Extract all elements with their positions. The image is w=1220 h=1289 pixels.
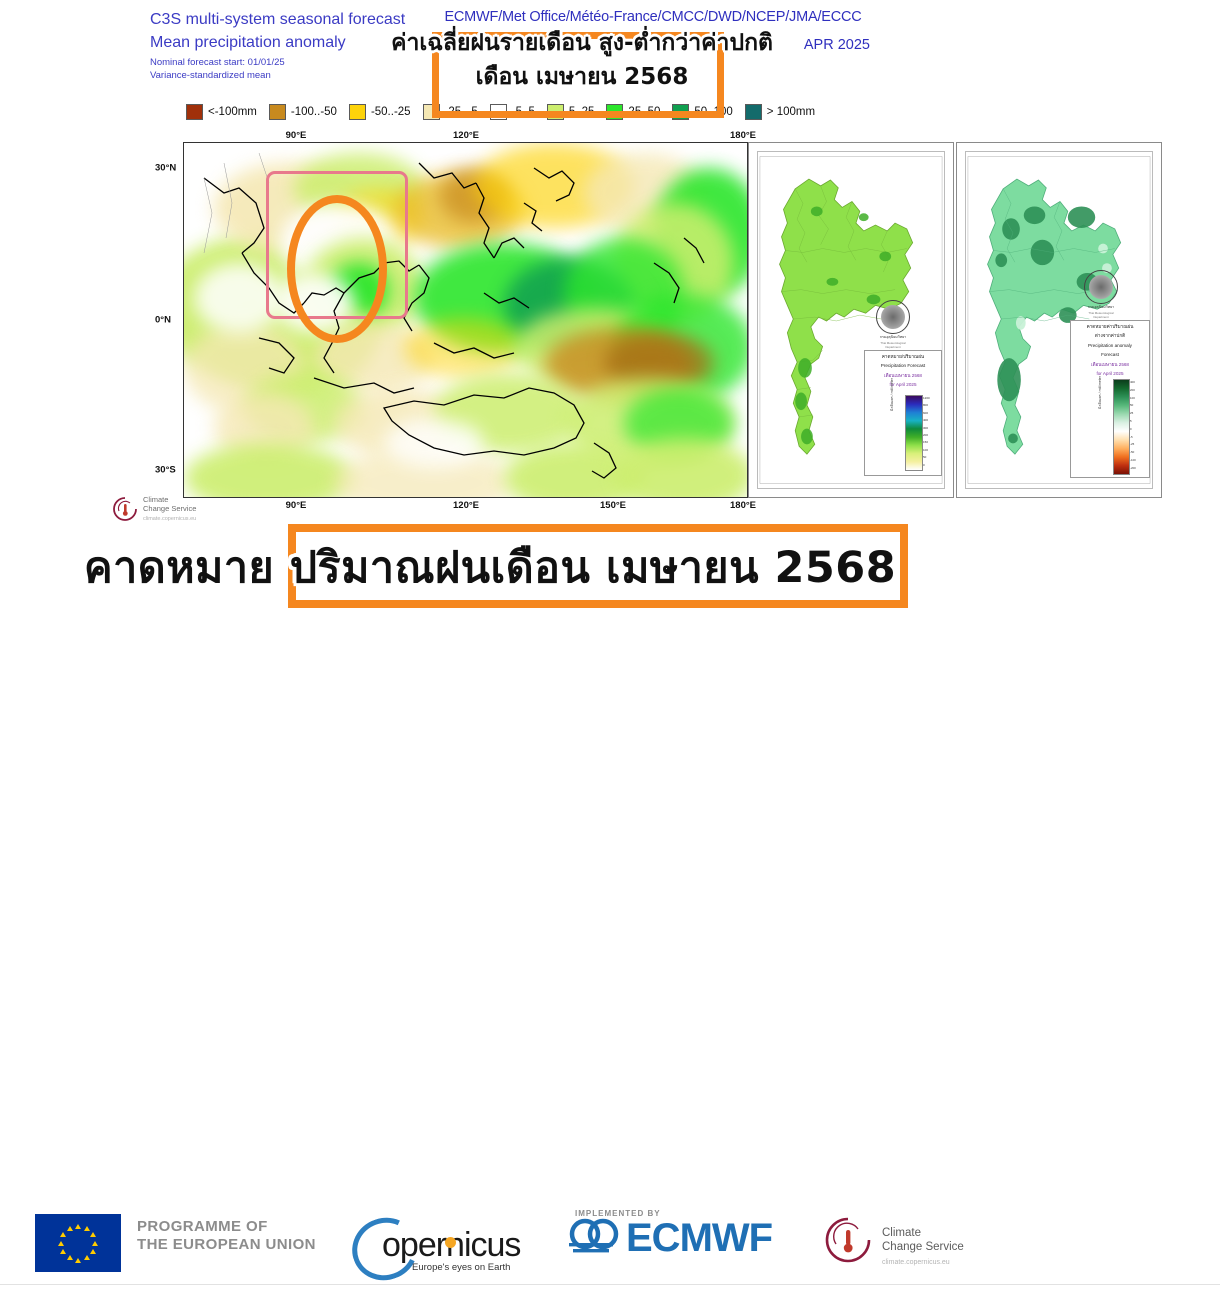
c3s-forecast-panel: C3S multi-system seasonal forecast Mean … bbox=[0, 0, 1220, 600]
longitude-tick-label: 90°E bbox=[286, 500, 307, 511]
latitude-tick-label: 30°S bbox=[155, 465, 176, 476]
eu-star-icon bbox=[84, 1255, 90, 1260]
forecast-method-text: Variance-standardized mean bbox=[150, 70, 405, 82]
ccs-thermometer-icon bbox=[820, 1212, 876, 1268]
thailand-legend-line: คาดหมาย/ปริมาณฝน bbox=[865, 351, 941, 360]
tmd-seal-caption-th-2: กรมอุตุนิยมวิทยา bbox=[1084, 305, 1118, 310]
ecmwf-wordmark: ECMWF bbox=[626, 1218, 772, 1258]
legend-item: -50..-25 bbox=[349, 104, 411, 120]
legend-label: <-100mm bbox=[208, 106, 257, 118]
eu-star-icon bbox=[84, 1226, 90, 1231]
legend-swatch bbox=[269, 104, 286, 120]
map-plot-area bbox=[183, 142, 748, 498]
thailand-legend-unit-2: มิลลิเมตร / millimeter bbox=[1097, 376, 1103, 409]
eu-star-icon bbox=[75, 1258, 81, 1263]
thai-title-line1: ค่าเฉลี่ยฝนรายเดือน สูง-ต่ำกว่าค่าปกติ bbox=[372, 28, 792, 58]
legend-label: > 100mm bbox=[767, 106, 815, 118]
thai-title-line2: เดือน เมษายน 2568 bbox=[372, 61, 792, 93]
footer-divider bbox=[0, 1284, 1220, 1285]
legend-item: > 100mm bbox=[745, 104, 815, 120]
legend-swatch bbox=[349, 104, 366, 120]
eu-flag-icon bbox=[35, 1214, 121, 1272]
thailand-legend-line: ต่างจากค่าปกติ bbox=[1071, 330, 1149, 339]
implemented-by-label: IMPLEMENTED BY bbox=[575, 1209, 661, 1218]
eu-programme-line2: THE EUROPEAN UNION bbox=[137, 1236, 316, 1254]
longitude-axis-bottom: 90°E120°E150°E180°E bbox=[183, 500, 748, 514]
eu-star-icon bbox=[75, 1224, 81, 1229]
eu-programme-line1: PROGRAMME OF bbox=[137, 1218, 316, 1236]
longitude-tick-label: 120°E bbox=[453, 500, 479, 511]
c3s-watermark: Climate Change Service climate.copernicu… bbox=[110, 494, 196, 524]
ecmwf-mark-icon bbox=[565, 1218, 623, 1258]
thailand-legend-1: คาดหมาย/ปริมาณฝนPrecipitation Forecastเด… bbox=[864, 350, 942, 476]
watermark-line2: Change Service bbox=[143, 504, 196, 513]
legend-swatch bbox=[745, 104, 762, 120]
latitude-tick-label: 0°N bbox=[155, 315, 171, 326]
thailand-map-frame-2: กรมอุตุนิยมวิทยา Thai Meteorological Dep… bbox=[965, 151, 1153, 489]
thailand-legend-unit-1: มิลลิเมตร / millimeter bbox=[889, 378, 895, 411]
ccs-line1: Climate bbox=[882, 1226, 964, 1240]
latitude-tick-label: 30°N bbox=[155, 163, 176, 174]
thai-overlay-title-top: ค่าเฉลี่ยฝนรายเดือน สูง-ต่ำกว่าค่าปกติ เ… bbox=[372, 28, 792, 93]
thai-overlay-title-bottom: คาดหมาย ปริมาณฝนเดือน เมษายน 2568 bbox=[0, 533, 980, 601]
thailand-precipitation-forecast-map: กรมอุตุนิยมวิทยา Thai Meteorological Dep… bbox=[748, 142, 954, 498]
footer-logos: PROGRAMME OF THE EUROPEAN UNION opernicu… bbox=[0, 600, 1220, 686]
eu-star-icon bbox=[67, 1226, 73, 1231]
copernicus-dot-icon bbox=[445, 1237, 456, 1248]
legend-item: <-100mm bbox=[186, 104, 257, 120]
tmd-seal-caption-en-1: Thai Meteorological Department bbox=[876, 341, 910, 350]
thailand-legend-2: คาดหมายค่าปริมาณฝนต่างจากค่าปกติPrecipit… bbox=[1070, 320, 1150, 478]
ccs-url: climate.copernicus.eu bbox=[882, 1259, 964, 1266]
region-highlight-ellipse bbox=[287, 195, 387, 343]
longitude-axis-top: 90°E120°E180°E bbox=[183, 130, 748, 142]
longitude-tick-label: 90°E bbox=[286, 130, 307, 141]
ecmwf-logo: ECMWF bbox=[565, 1218, 772, 1258]
thailand-legend-line: for April 2025 bbox=[1071, 368, 1149, 377]
eu-star-icon bbox=[90, 1249, 96, 1254]
eu-star-icon bbox=[67, 1255, 73, 1260]
watermark-line1: Climate bbox=[143, 495, 196, 504]
forecast-title-line1: C3S multi-system seasonal forecast bbox=[150, 10, 405, 30]
eu-star-icon bbox=[92, 1241, 98, 1246]
thailand-legend-line: Precipitation Forecast bbox=[865, 360, 941, 369]
ccs-text: Climate Change Service climate.copernicu… bbox=[882, 1226, 964, 1266]
eu-programme-text: PROGRAMME OF THE EUROPEAN UNION bbox=[137, 1218, 316, 1254]
tmd-seal-2: กรมอุตุนิยมวิทยา Thai Meteorological Dep… bbox=[1084, 270, 1118, 304]
global-anomaly-map bbox=[183, 142, 748, 498]
forecast-header-left: C3S multi-system seasonal forecast Mean … bbox=[150, 10, 405, 82]
tmd-seal-caption-en-2: Thai Meteorological Department bbox=[1084, 311, 1118, 320]
forecast-start-text: Nominal forecast start: 01/01/25 bbox=[150, 57, 405, 69]
tmd-seal-caption-th-1: กรมอุตุนิยมวิทยา bbox=[876, 335, 910, 340]
legend-item: -100..-50 bbox=[269, 104, 337, 120]
tmd-seal-1: กรมอุตุนิยมวิทยา Thai Meteorological Dep… bbox=[876, 300, 910, 334]
longitude-tick-label: 150°E bbox=[600, 500, 626, 511]
ccs-logo: Climate Change Service climate.copernicu… bbox=[820, 1212, 964, 1268]
thailand-map-frame-1: กรมอุตุนิยมวิทยา Thai Meteorological Dep… bbox=[757, 151, 945, 489]
legend-label: -100..-50 bbox=[291, 106, 337, 118]
forecast-title-line2: Mean precipitation anomaly bbox=[150, 33, 405, 53]
model-list-text: ECMWF/Met Office/Météo-France/CMCC/DWD/N… bbox=[418, 9, 888, 25]
legend-swatch bbox=[186, 104, 203, 120]
copernicus-logo: opernicus Europe's eyes on Earth bbox=[352, 1212, 512, 1274]
thailand-legend-lines-1: คาดหมาย/ปริมาณฝนPrecipitation Forecastเด… bbox=[865, 351, 941, 389]
ccs-line2: Change Service bbox=[882, 1240, 964, 1254]
watermark-text: Climate Change Service climate.copernicu… bbox=[143, 495, 196, 524]
thailand-legend-line: เดือนเมษายน 2568 bbox=[865, 370, 941, 379]
copernicus-tagline: Europe's eyes on Earth bbox=[412, 1262, 510, 1273]
thailand-legend-line: คาดหมายค่าปริมาณฝน bbox=[1071, 321, 1149, 330]
thailand-legend-line: เดือนเมษายน 2568 bbox=[1071, 359, 1149, 368]
thailand-legend-line: Precipitation anomaly bbox=[1071, 340, 1149, 349]
thailand-legend-line: for April 2025 bbox=[865, 379, 941, 388]
climate-change-service-icon bbox=[110, 494, 140, 524]
thailand-legend-line: Forecast bbox=[1071, 349, 1149, 358]
eu-star-icon bbox=[60, 1232, 66, 1237]
thailand-precipitation-anomaly-map: กรมอุตุนิยมวิทยา Thai Meteorological Dep… bbox=[956, 142, 1162, 498]
eu-star-icon bbox=[90, 1232, 96, 1237]
watermark-url: climate.copernicus.eu bbox=[143, 515, 196, 524]
longitude-tick-label: 180°E bbox=[730, 500, 756, 511]
legend-label: -50..-25 bbox=[371, 106, 411, 118]
longitude-tick-label: 180°E bbox=[730, 130, 756, 141]
eu-star-icon bbox=[60, 1249, 66, 1254]
thailand-legend-lines-2: คาดหมายค่าปริมาณฝนต่างจากค่าปกติPrecipit… bbox=[1071, 321, 1149, 377]
eu-star-icon bbox=[58, 1241, 64, 1246]
longitude-tick-label: 120°E bbox=[453, 130, 479, 141]
